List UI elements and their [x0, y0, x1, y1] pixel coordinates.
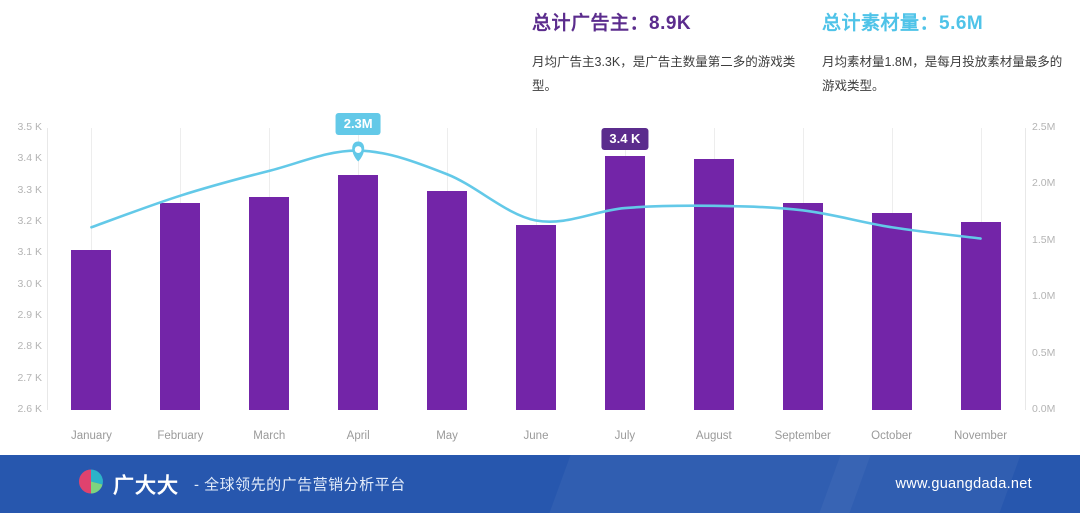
left-axis-tick: 3.1 K: [17, 246, 42, 258]
plot-area: 3.4 K2.3M JanuaryFebruaryMarchAprilMayJu…: [47, 128, 1025, 410]
line-marker-pin[interactable]: [352, 142, 364, 162]
right-axis-tick: 0.5M: [1032, 347, 1055, 359]
left-axis-tick: 3.5 K: [17, 121, 42, 133]
line-value-badge: 2.3M: [336, 113, 381, 135]
summary-header: 总计广告主：8.9K 月均广告主3.3K，是广告主数量第二多的游戏类型。 总计素…: [0, 0, 1080, 110]
x-label-october: October: [871, 430, 912, 442]
x-label-july: July: [615, 430, 635, 442]
x-label-november: November: [954, 430, 1007, 442]
advertisers-description: 月均广告主3.3K，是广告主数量第二多的游戏类型。: [532, 51, 802, 99]
creatives-total-title: 总计素材量：5.6M: [822, 8, 1072, 35]
right-axis-tick: 0.0M: [1032, 403, 1055, 415]
advertisers-total-title: 总计广告主：8.9K: [532, 8, 802, 35]
left-axis-tick: 3.4 K: [17, 152, 42, 164]
footer-bar: 广大大 - 全球领先的广告营销分析平台 www.guangdada.net: [0, 455, 1080, 513]
pie-chart-logo-icon: [78, 469, 104, 500]
right-axis-tick: 1.0M: [1032, 290, 1055, 302]
left-axis-tick: 3.3 K: [17, 184, 42, 196]
line-path: [91, 151, 980, 239]
x-label-september: September: [775, 430, 831, 442]
left-axis-tick: 2.6 K: [17, 403, 42, 415]
left-axis-tick: 2.9 K: [17, 309, 42, 321]
left-axis-tick: 3.0 K: [17, 278, 42, 290]
right-axis-tick: 2.5M: [1032, 121, 1055, 133]
summary-card-advertisers: 总计广告主：8.9K 月均广告主3.3K，是广告主数量第二多的游戏类型。: [532, 8, 802, 99]
x-label-april: April: [347, 430, 370, 442]
combo-chart: 3.5 K3.4 K3.3 K3.2 K3.1 K3.0 K2.9 K2.8 K…: [0, 110, 1080, 450]
x-label-june: June: [524, 430, 549, 442]
x-label-february: February: [157, 430, 203, 442]
bar-value-badge: 3.4 K: [601, 128, 648, 150]
left-axis-tick: 3.2 K: [17, 215, 42, 227]
x-label-march: March: [253, 430, 285, 442]
brand-lockup: 广大大 - 全球领先的广告营销分析平台: [78, 469, 406, 500]
x-label-may: May: [436, 430, 458, 442]
site-url[interactable]: www.guangdada.net: [895, 476, 1032, 492]
brand-tagline: - 全球领先的广告营销分析平台: [194, 474, 406, 495]
summary-card-creatives: 总计素材量：5.6M 月均素材量1.8M，是每月投放素材量最多的游戏类型。: [822, 8, 1072, 99]
right-axis-tick: 1.5M: [1032, 234, 1055, 246]
brand-name: 广大大: [113, 469, 179, 499]
creatives-description: 月均素材量1.8M，是每月投放素材量最多的游戏类型。: [822, 51, 1072, 99]
x-label-january: January: [71, 430, 112, 442]
left-axis-tick: 2.8 K: [17, 340, 42, 352]
x-label-august: August: [696, 430, 732, 442]
left-axis-tick: 2.7 K: [17, 372, 42, 384]
right-axis-tick: 2.0M: [1032, 177, 1055, 189]
line-series-creatives: [47, 128, 1025, 410]
y-axis-right-line: [1025, 128, 1026, 410]
